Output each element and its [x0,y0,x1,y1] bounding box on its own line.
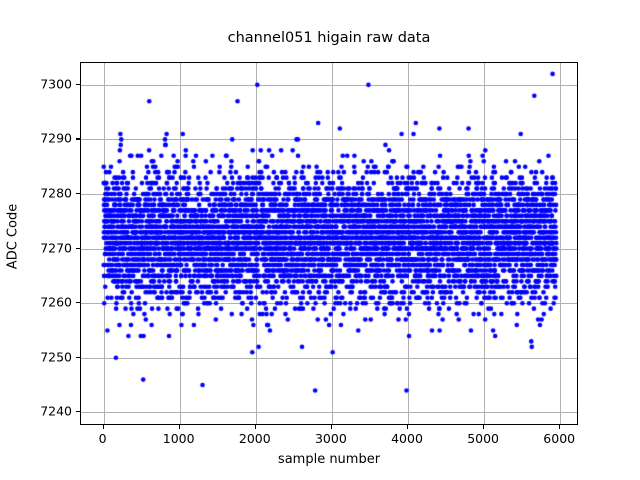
y-tick-mark [76,193,80,194]
page-title: channel051 higain raw data [80,30,578,46]
y-tick-label: 7280 [20,186,72,201]
y-tick-label: 7300 [20,76,72,91]
x-tick-mark [407,425,408,429]
y-axis-label: ADC Code [6,177,21,297]
plot-area [80,62,578,425]
y-tick-mark [76,302,80,303]
y-tick-label: 7240 [20,404,72,419]
x-tick-mark [331,425,332,429]
x-tick-mark [179,425,180,429]
x-tick-label: 6000 [543,431,575,446]
x-tick-mark [103,425,104,429]
y-tick-mark [76,138,80,139]
x-tick-mark [559,425,560,429]
x-axis-label: sample number [80,452,578,467]
x-tick-label: 5000 [467,431,499,446]
y-tick-mark [76,357,80,358]
y-tick-label: 7290 [20,131,72,146]
x-tick-label: 0 [99,431,107,446]
matplotlib-figure: channel051 higain raw data 0100020003000… [0,0,640,480]
x-tick-label: 2000 [239,431,271,446]
y-tick-mark [76,248,80,249]
y-tick-mark [76,411,80,412]
y-tick-label: 7250 [20,349,72,364]
x-tick-label: 3000 [315,431,347,446]
x-tick-label: 4000 [391,431,423,446]
y-tick-label: 7260 [20,295,72,310]
scatter-series-channel051 [81,63,578,425]
y-tick-mark [76,84,80,85]
x-tick-mark [483,425,484,429]
x-tick-mark [255,425,256,429]
y-tick-label: 7270 [20,240,72,255]
x-tick-label: 1000 [163,431,195,446]
